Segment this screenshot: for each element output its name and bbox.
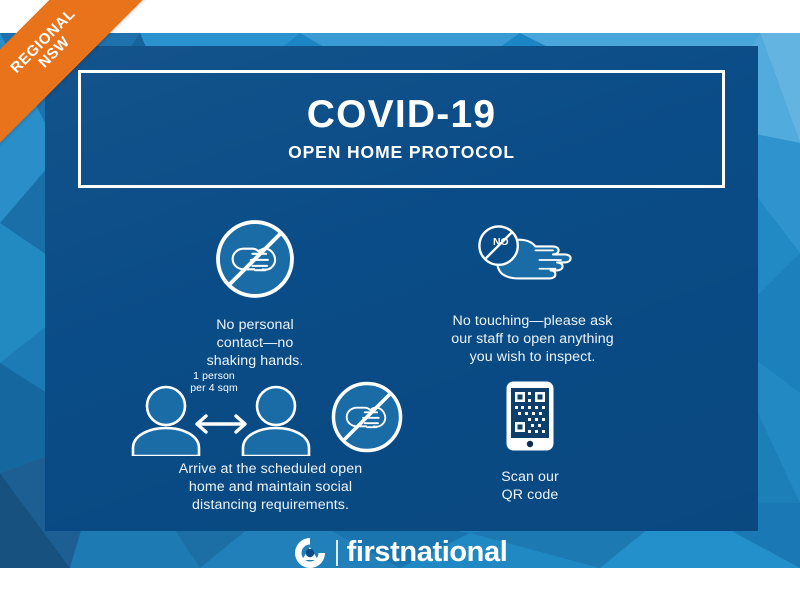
phone-qr-code-icon — [455, 380, 605, 452]
item-caption: Scan our QR code — [455, 468, 605, 504]
distance-rule-label: 1 person per 4 sqm — [168, 370, 260, 394]
no-badge-label: NO — [493, 237, 509, 248]
item-caption: No touching—please ask our staff to open… — [420, 312, 645, 367]
no-touching-hand-icon: NO — [420, 216, 645, 296]
item-social-distancing: 1 person per 4 sqm — [118, 372, 423, 515]
page-title: COVID-19 — [307, 95, 496, 136]
item-no-personal-contact: No personal contact—no shaking hands. — [170, 216, 340, 371]
distance-arrow-icon — [197, 416, 245, 432]
logo-divider — [336, 540, 338, 566]
first-national-swoosh-icon — [293, 537, 327, 569]
item-caption: Arrive at the scheduled open home and ma… — [118, 460, 423, 515]
item-caption: No personal contact—no shaking hands. — [170, 316, 340, 371]
no-handshake-icon — [328, 378, 406, 456]
logo-text: firstnational — [347, 536, 508, 569]
no-handshake-icon — [170, 216, 340, 302]
title-frame: COVID-19 OPEN HOME PROTOCOL — [78, 70, 725, 188]
item-scan-qr-code: Scan our QR code — [455, 380, 605, 504]
poster: COVID-19 OPEN HOME PROTOCOL REGIONAL NSW — [0, 0, 800, 600]
page-subtitle: OPEN HOME PROTOCOL — [288, 142, 515, 163]
item-no-touching: NO No touching—please ask our staff to o… — [420, 216, 645, 367]
first-national-logo: firstnational — [0, 536, 800, 569]
